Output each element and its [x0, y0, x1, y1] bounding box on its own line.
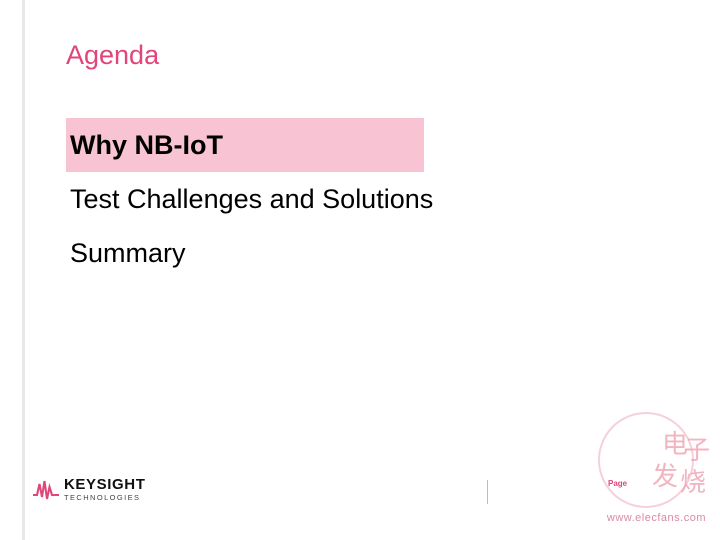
agenda-item-test-challenges[interactable]: Test Challenges and Solutions — [66, 172, 626, 226]
watermark-char-3: 发 — [652, 456, 678, 493]
slide-canvas: Agenda Why NB-IoT Test Challenges and So… — [0, 0, 720, 540]
watermark-url: www.elecfans.com — [607, 512, 706, 524]
keysight-logo: KEYSIGHT TECHNOLOGIES — [33, 477, 145, 503]
agenda-list: Why NB-IoT Test Challenges and Solutions… — [66, 118, 626, 280]
watermark-ring — [598, 412, 694, 508]
watermark-char-1: 电 — [662, 424, 688, 461]
agenda-item-label: Summary — [70, 238, 186, 268]
keysight-logo-sub: TECHNOLOGIES — [64, 493, 145, 503]
agenda-item-label: Why NB-IoT — [70, 130, 223, 160]
keysight-wave-icon — [33, 479, 59, 501]
watermark: 电 子 发 烧 www.elecfans.com — [562, 416, 712, 526]
watermark-char-4: 烧 — [680, 462, 706, 499]
page-number-label: Page — [608, 479, 627, 488]
keysight-logo-text: KEYSIGHT TECHNOLOGIES — [64, 477, 145, 503]
watermark-char-2: 子 — [684, 430, 710, 467]
page-title: Agenda — [66, 38, 159, 72]
footer-divider — [487, 480, 488, 504]
agenda-item-label: Test Challenges and Solutions — [70, 184, 433, 214]
left-accent-bar — [22, 0, 25, 540]
agenda-item-summary[interactable]: Summary — [66, 226, 626, 280]
agenda-item-why-nb-iot[interactable]: Why NB-IoT — [66, 118, 424, 172]
keysight-logo-main: KEYSIGHT — [64, 477, 145, 493]
